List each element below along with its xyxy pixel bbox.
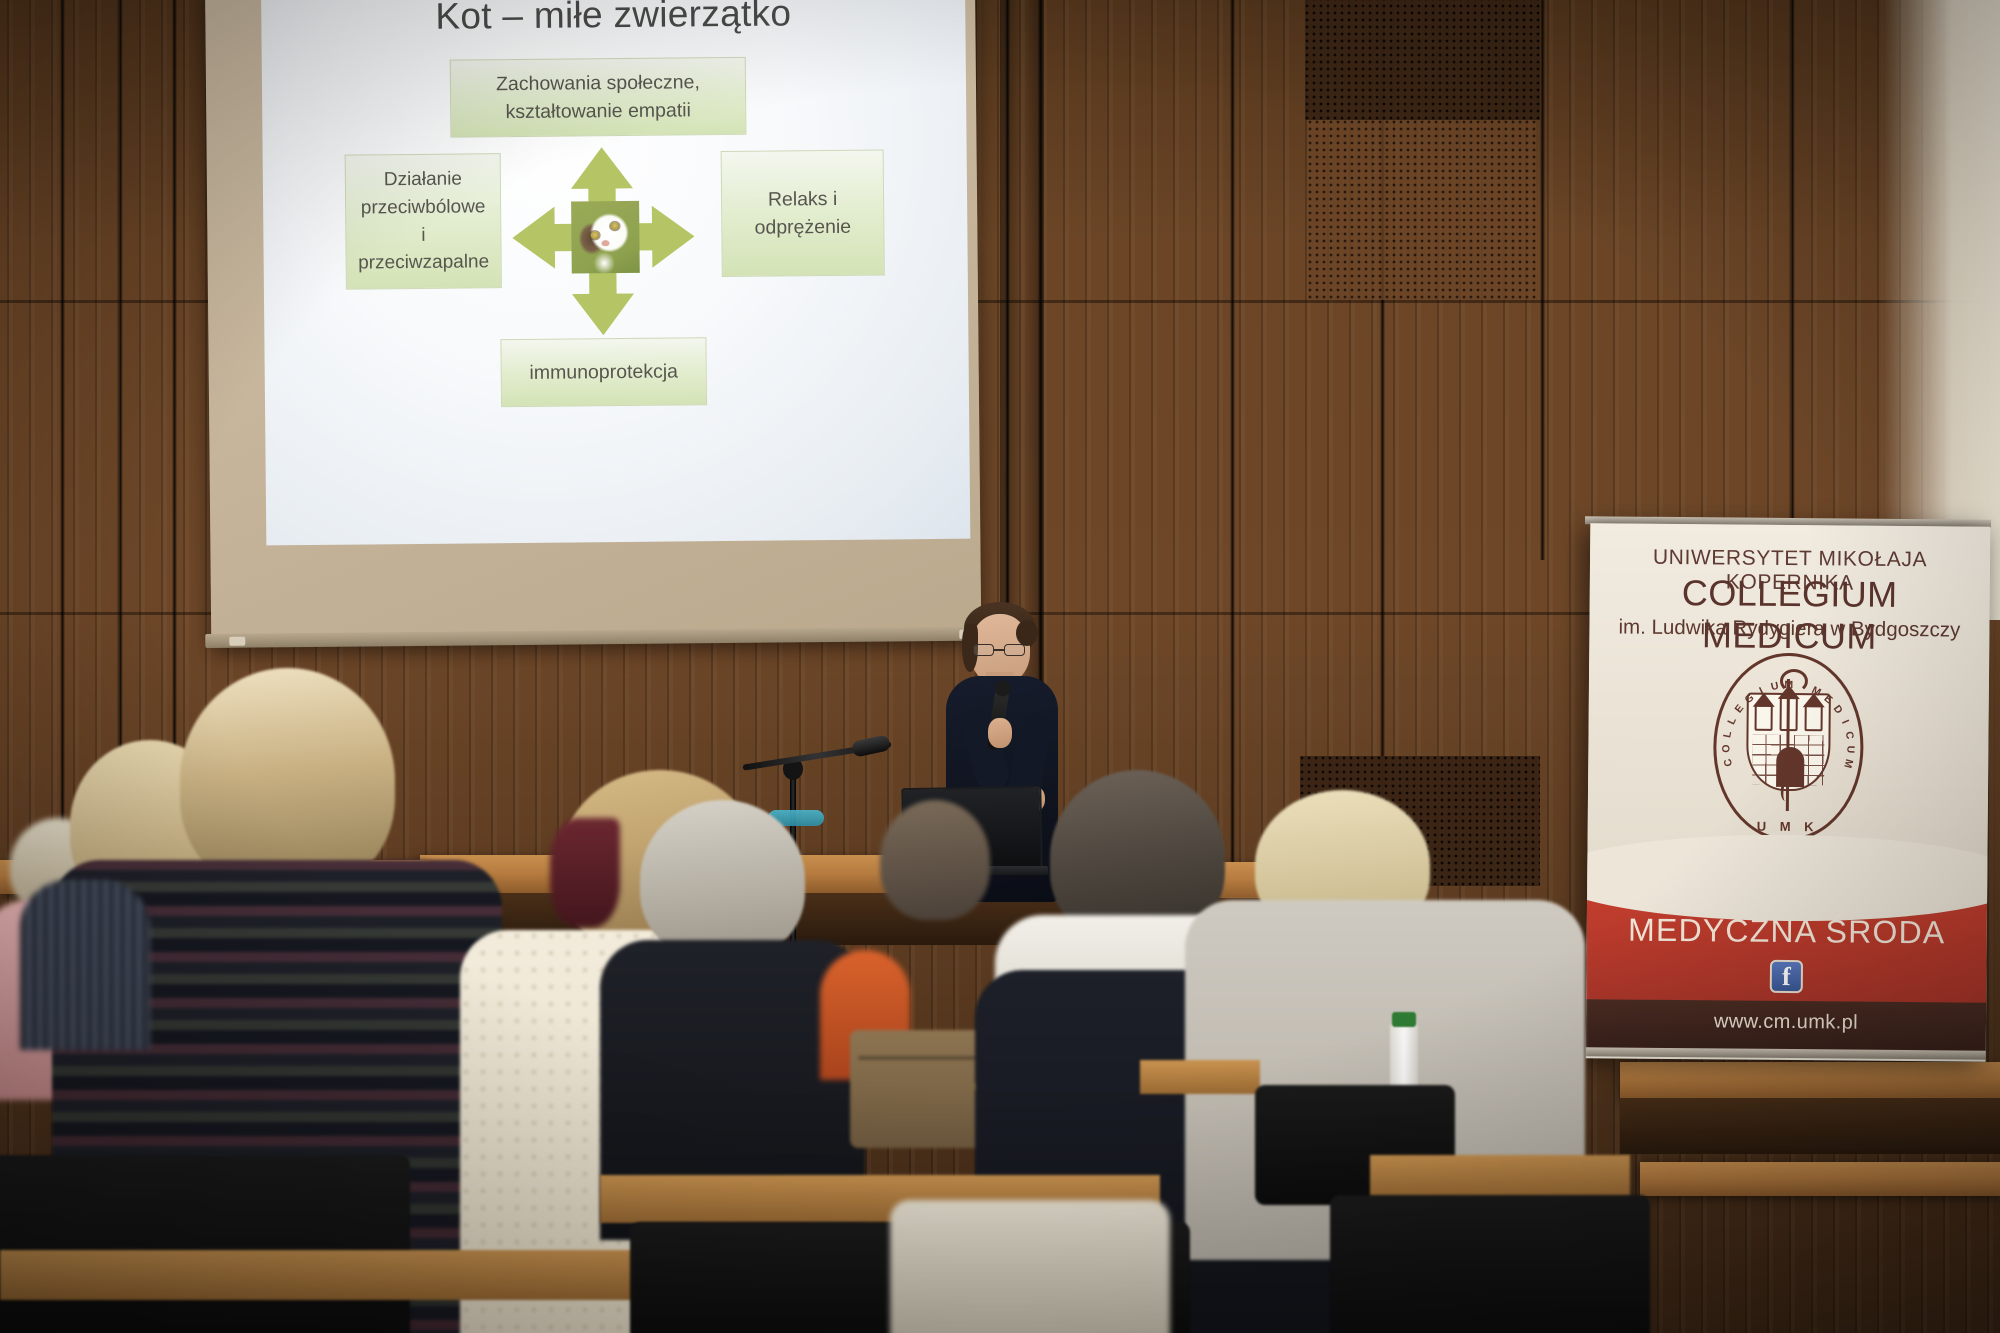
seal-arc-char: I <box>1757 685 1765 697</box>
wall-seam <box>1540 0 1545 560</box>
glasses-icon <box>972 644 1028 656</box>
lecture-hall-scene: Kot – miłe zwierzątko Zachowania społecz… <box>0 0 2000 1333</box>
wall-seam <box>1790 0 1795 520</box>
projection-screen: Kot – miłe zwierzątko Zachowania społecz… <box>205 0 981 656</box>
slide-box-top-line1: Zachowania społeczne, <box>496 68 700 98</box>
glasses-lens-right <box>1004 644 1025 656</box>
bench-desk <box>1370 1155 1630 1199</box>
seal-arc-char: E <box>1822 693 1835 707</box>
seal-arc-char: C <box>1722 757 1736 768</box>
slide-box-social-behaviour: Zachowania społeczne, kształtowanie empa… <box>450 57 747 138</box>
seal-arc-char: M <box>1810 684 1823 699</box>
seal-arc-text: COLLEGIUM MEDICUM <box>1713 652 1865 841</box>
slide-box-left-line3: przeciwzapalne <box>357 248 491 277</box>
side-step <box>1620 1062 2000 1098</box>
seal-arc-char: L <box>1725 715 1739 726</box>
slide-box-right-line1: Relaks i <box>754 185 851 214</box>
four-way-arrow-diagram <box>512 146 694 336</box>
facebook-icon: f <box>1770 960 1803 993</box>
collegium-medicum-banner: UNIWERSYTET MIKOŁAJA KOPERNIKA COLLEGIUM… <box>1586 523 1991 1061</box>
seal-arc-char: E <box>1733 702 1747 715</box>
seal-arc-char: L <box>1721 730 1734 739</box>
banner-event-title: MEDYCZNA ŚRODA <box>1587 911 1987 951</box>
cat-eye-right <box>610 222 619 230</box>
bench-desk <box>1140 1060 1260 1094</box>
acoustic-panel <box>1305 0 1540 120</box>
slide-box-right-line2: odprężenie <box>754 213 851 242</box>
seal-arc-char: M <box>1841 758 1855 770</box>
wall-seam <box>1230 0 1235 900</box>
projected-slide: Kot – miłe zwierzątko Zachowania społecz… <box>261 0 970 545</box>
seal-arc-char: I <box>1839 718 1851 726</box>
audience-hair <box>550 818 620 928</box>
seal-arc-char: M <box>1784 679 1793 691</box>
seal-arc-char: O <box>1720 744 1732 753</box>
audience-head <box>880 800 990 920</box>
slide-box-immunoprotection: immunoprotekcja <box>500 337 707 407</box>
slide-title: Kot – miłe zwierzątko <box>261 0 965 39</box>
seal-arc-char: C <box>1843 730 1856 740</box>
slide-box-left-line2: przeciwbólowe i <box>356 193 491 249</box>
seat-back <box>0 1155 410 1333</box>
seal-bottom-text: U M K <box>1713 818 1863 834</box>
bag-zipper <box>858 1056 992 1060</box>
seal-arc-char: D <box>1831 703 1845 716</box>
slide-box-left-line1: Działanie <box>356 166 490 195</box>
university-seal-icon: COLLEGIUM MEDICUM U M K <box>1713 652 1865 841</box>
side-step-front <box>1620 1098 2000 1154</box>
screen-knob <box>229 637 245 646</box>
audience-head <box>640 800 805 960</box>
speaker-hair-bun <box>1016 620 1038 646</box>
slide-box-relaxation: Relaks i odprężenie <box>721 149 885 277</box>
acoustic-panel <box>1308 120 1536 300</box>
seal-arc-char: G <box>1742 691 1756 706</box>
bottle-cap <box>1392 1012 1416 1027</box>
audience-body <box>20 880 150 1050</box>
seal-arc-char: U <box>1770 680 1780 693</box>
seat-back <box>1330 1195 1650 1333</box>
glasses-bridge <box>994 649 1004 651</box>
cat-eye-left <box>590 231 599 239</box>
slide-box-top-line2: kształtowanie empatii <box>496 96 700 126</box>
seal-arc-char: U <box>1844 745 1856 753</box>
banner-website: www.cm.umk.pl <box>1586 1009 1986 1035</box>
speaker-hand-left <box>988 718 1012 748</box>
cat-photo <box>571 201 640 274</box>
seat-cushion <box>890 1200 1170 1333</box>
cat-nose <box>601 240 609 246</box>
bench-desk <box>0 1250 680 1300</box>
glasses-lens-left <box>973 644 994 656</box>
side-step <box>1640 1162 2000 1196</box>
banner-patron-name: im. Ludwika Rydygiera w Bydgoszczy <box>1589 615 1989 642</box>
slide-box-analgesic: Działanie przeciwbólowe i przeciwzapalne <box>345 153 502 289</box>
